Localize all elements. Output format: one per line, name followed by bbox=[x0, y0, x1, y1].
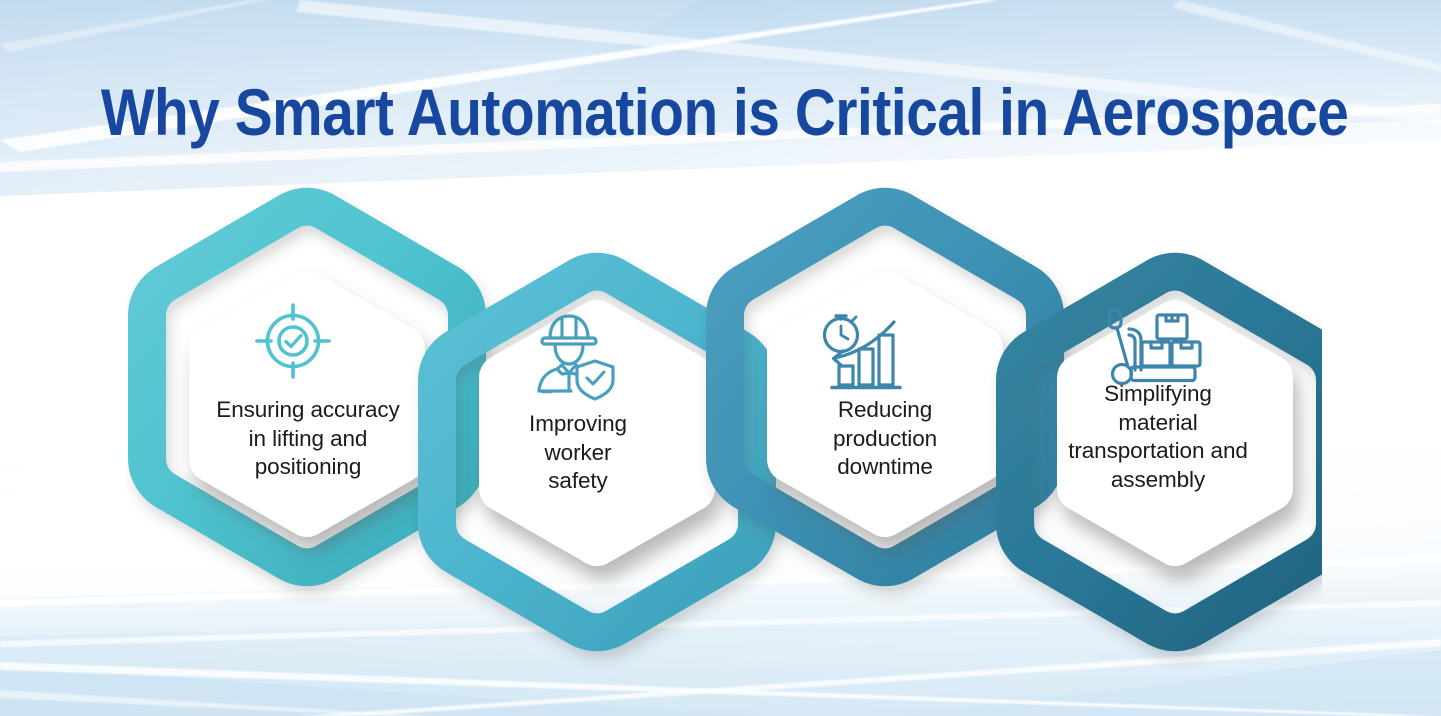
infographic-canvas: Why Smart Automation is Critical in Aero… bbox=[0, 0, 1441, 716]
hex-label-transport-line-2: material bbox=[1030, 409, 1286, 438]
hex-label-safety-box: Improving worker safety bbox=[455, 410, 701, 520]
hexagon-chain: Ensuring accuracy in lifting and positio… bbox=[0, 0, 1441, 716]
hex-label-accuracy-box: Ensuring accuracy in lifting and positio… bbox=[170, 396, 446, 506]
hex-label-accuracy-line-1: Ensuring accuracy bbox=[170, 396, 446, 425]
hex-label-downtime-line-2: production bbox=[760, 425, 1010, 454]
hex-label-accuracy-line-2: in lifting and bbox=[170, 425, 446, 454]
hex-label-downtime-line-1: Reducing bbox=[760, 396, 1010, 425]
hex-label-safety-line-1: Improving bbox=[455, 410, 701, 439]
hex-label-transport-line-4: assembly bbox=[1030, 466, 1286, 495]
hex-label-accuracy: Ensuring accuracy in lifting and positio… bbox=[170, 396, 446, 482]
hex-label-safety-line-2: worker bbox=[455, 439, 701, 468]
hex-label-transport-line-1: Simplifying bbox=[1030, 380, 1286, 409]
hex-label-downtime-line-3: downtime bbox=[760, 453, 1010, 482]
hex-label-safety: Improving worker safety bbox=[455, 410, 701, 496]
hex-label-safety-line-3: safety bbox=[455, 467, 701, 496]
hex-label-accuracy-line-3: positioning bbox=[170, 453, 446, 482]
hex-label-transport: Simplifying material transportation and … bbox=[1030, 380, 1286, 494]
hex-label-downtime-box: Reducing production downtime bbox=[760, 396, 1010, 506]
hex-label-transport-box: Simplifying material transportation and … bbox=[1030, 380, 1286, 520]
hex-label-downtime: Reducing production downtime bbox=[760, 396, 1010, 482]
hex-label-transport-line-3: transportation and bbox=[1030, 437, 1286, 466]
